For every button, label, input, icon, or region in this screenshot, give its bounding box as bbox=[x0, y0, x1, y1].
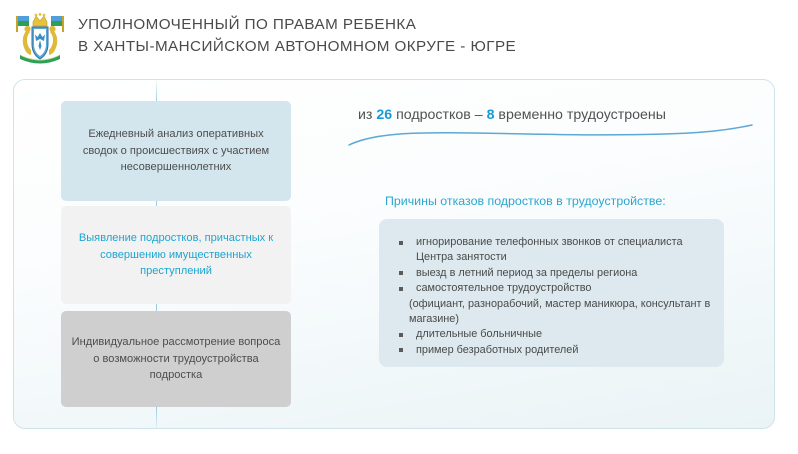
flow-box-identify-teens[interactable]: Выявление подростков, причастных к совер… bbox=[61, 206, 291, 304]
list-item-text: самостоятельное трудоустройство bbox=[416, 282, 591, 294]
bullet-square-icon bbox=[399, 348, 403, 352]
stats-headline-prefix: из bbox=[358, 107, 376, 123]
list-item-text: игнорирование телефонных звонков от спец… bbox=[416, 236, 683, 263]
stats-total-teens: 26 bbox=[376, 107, 392, 123]
stats-headline: из 26 подростков – 8 временно трудоустро… bbox=[358, 105, 758, 125]
list-item[interactable]: пример безработных родителей bbox=[392, 343, 712, 358]
list-item[interactable]: длительные больничные bbox=[392, 327, 712, 342]
flow-box-individual-review[interactable]: Индивидуальное рассмотрение вопроса о во… bbox=[61, 311, 291, 407]
bullet-square-icon bbox=[399, 271, 403, 275]
slide-header: УПОЛНОМОЧЕННЫЙ ПО ПРАВАМ РЕБЕНКА В ХАНТЫ… bbox=[0, 0, 798, 78]
list-item-text: пример безработных родителей bbox=[416, 344, 578, 356]
page-title-line-1: УПОЛНОМОЧЕННЫЙ ПО ПРАВАМ РЕБЕНКА bbox=[78, 14, 516, 36]
reasons-title: Причины отказов подростков в трудоустрой… bbox=[385, 194, 666, 208]
page-title: УПОЛНОМОЧЕННЫЙ ПО ПРАВАМ РЕБЕНКА В ХАНТЫ… bbox=[78, 14, 516, 58]
stats-headline-middle: подростков – bbox=[392, 107, 486, 123]
list-item-text: выезд в летний период за пределы региона bbox=[416, 267, 637, 279]
flow-box-identify-teens-label: Выявление подростков, причастных к совер… bbox=[71, 230, 281, 280]
flow-box-individual-review-label: Индивидуальное рассмотрение вопроса о во… bbox=[71, 334, 281, 384]
reasons-list: игнорирование телефонных звонков от спец… bbox=[392, 235, 712, 358]
page-title-line-2: В ХАНТЫ-МАНСИЙСКОМ АВТОНОМНОМ ОКРУГЕ - Ю… bbox=[78, 36, 516, 58]
swoosh-underline-icon bbox=[344, 124, 764, 150]
stats-headline-suffix: временно трудоустроены bbox=[494, 107, 666, 123]
bullet-square-icon bbox=[399, 287, 403, 291]
list-item[interactable]: игнорирование телефонных звонков от спец… bbox=[392, 235, 712, 266]
list-item[interactable]: самостоятельное трудоустройство (официан… bbox=[392, 281, 712, 327]
content-card: Ежедневный анализ оперативных сводок о п… bbox=[13, 79, 775, 429]
slide-root: УПОЛНОМОЧЕННЫЙ ПО ПРАВАМ РЕБЕНКА В ХАНТЫ… bbox=[0, 0, 798, 454]
flow-box-daily-analysis[interactable]: Ежедневный анализ оперативных сводок о п… bbox=[61, 101, 291, 201]
khmao-coat-of-arms-icon bbox=[14, 10, 66, 68]
flow-box-daily-analysis-label: Ежедневный анализ оперативных сводок о п… bbox=[71, 126, 281, 176]
list-item-text: длительные больничные bbox=[416, 328, 542, 340]
list-item[interactable]: выезд в летний период за пределы региона bbox=[392, 266, 712, 281]
list-item-subtext: (официант, разнорабочий, мастер маникюра… bbox=[409, 297, 712, 328]
bullet-square-icon bbox=[399, 241, 403, 245]
bullet-square-icon bbox=[399, 333, 403, 337]
